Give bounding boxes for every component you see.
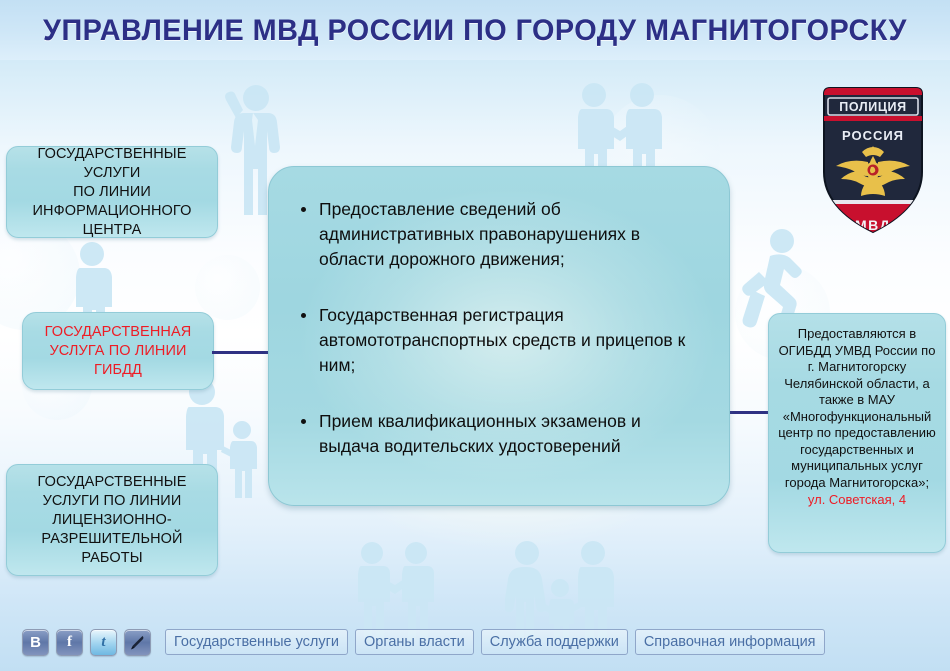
- nav-button-gosuslugi[interactable]: Государственные услуги: [165, 629, 348, 655]
- svg-text:МВД: МВД: [855, 217, 891, 233]
- sidebar-box-gibdd[interactable]: ГОСУДАРСТВЕННАЯ УСЛУГА ПО ЛИНИИ ГИБДД: [22, 312, 214, 390]
- services-bullet-list: Предоставление сведений об административ…: [295, 197, 703, 459]
- nav-button-label: Органы власти: [364, 634, 465, 650]
- svg-text:ПОЛИЦИЯ: ПОЛИЦИЯ: [839, 100, 906, 114]
- vk-icon-glyph: В: [30, 634, 41, 651]
- sidebar-box-information-center[interactable]: ГОСУДАРСТВЕННЫЕ УСЛУГИ ПО ЛИНИИ ИНФОРМАЦ…: [6, 146, 218, 238]
- service-bullet-item: Предоставление сведений об административ…: [295, 197, 703, 272]
- sidebar-box-label: ГОСУДАРСТВЕННАЯ УСЛУГА ПО ЛИНИИ ГИБДД: [45, 323, 192, 380]
- nav-button-label: Справочная информация: [644, 634, 816, 650]
- slide-root: УПРАВЛЕНИЕ МВД РОССИИ ПО ГОРОДУ МАГНИТОГ…: [0, 0, 950, 671]
- nav-button-organy-vlasti[interactable]: Органы власти: [355, 629, 474, 655]
- nav-button-spravochnaya-informaciya[interactable]: Справочная информация: [635, 629, 825, 655]
- pen-glyph: [129, 634, 146, 651]
- bottom-toolbar: В f t Государственные услуги Органы влас…: [0, 613, 950, 671]
- sidebar-box-label: ГОСУДАРСТВЕННЫЕ УСЛУГИ ПО ЛИНИИ ИНФОРМАЦ…: [15, 145, 209, 240]
- blog-pen-icon[interactable]: [124, 629, 151, 656]
- sidebar-box-label: ГОСУДАРСТВЕННЫЕ УСЛУГИ ПО ЛИНИИ ЛИЦЕНЗИО…: [37, 473, 186, 568]
- nav-button-label: Служба поддержки: [490, 634, 619, 650]
- nav-button-label: Государственные услуги: [174, 634, 339, 650]
- service-locations-panel: Предоставляются в ОГИБДД УМВД России по …: [768, 313, 946, 553]
- service-bullet-item: Прием квалификационных экзаменов и выдач…: [295, 409, 703, 459]
- svg-text:РОССИЯ: РОССИЯ: [842, 128, 904, 143]
- sidebar-box-licensing-permit-work[interactable]: ГОСУДАРСТВЕННЫЕ УСЛУГИ ПО ЛИНИИ ЛИЦЕНЗИО…: [6, 464, 218, 576]
- main-services-panel: Предоставление сведений об административ…: [268, 166, 730, 506]
- twitter-icon-glyph: t: [101, 634, 105, 651]
- vk-icon[interactable]: В: [22, 629, 49, 656]
- facebook-icon-glyph: f: [67, 634, 72, 651]
- facebook-icon[interactable]: f: [56, 629, 83, 656]
- page-title: УПРАВЛЕНИЕ МВД РОССИИ ПО ГОРОДУ МАГНИТОГ…: [19, 14, 931, 48]
- connector-line-left: [212, 351, 274, 354]
- service-address: ул. Советская, 4: [777, 491, 937, 508]
- police-emblem-icon: ПОЛИЦИЯ РОССИЯ МВД: [812, 80, 934, 240]
- nav-button-sluzhba-podderzhki[interactable]: Служба поддержки: [481, 629, 628, 655]
- service-bullet-item: Государственная регистрация автомототран…: [295, 303, 703, 378]
- connector-line-right: [726, 411, 774, 414]
- service-locations-text: Предоставляются в ОГИБДД УМВД России по …: [777, 326, 937, 491]
- twitter-icon[interactable]: t: [90, 629, 117, 656]
